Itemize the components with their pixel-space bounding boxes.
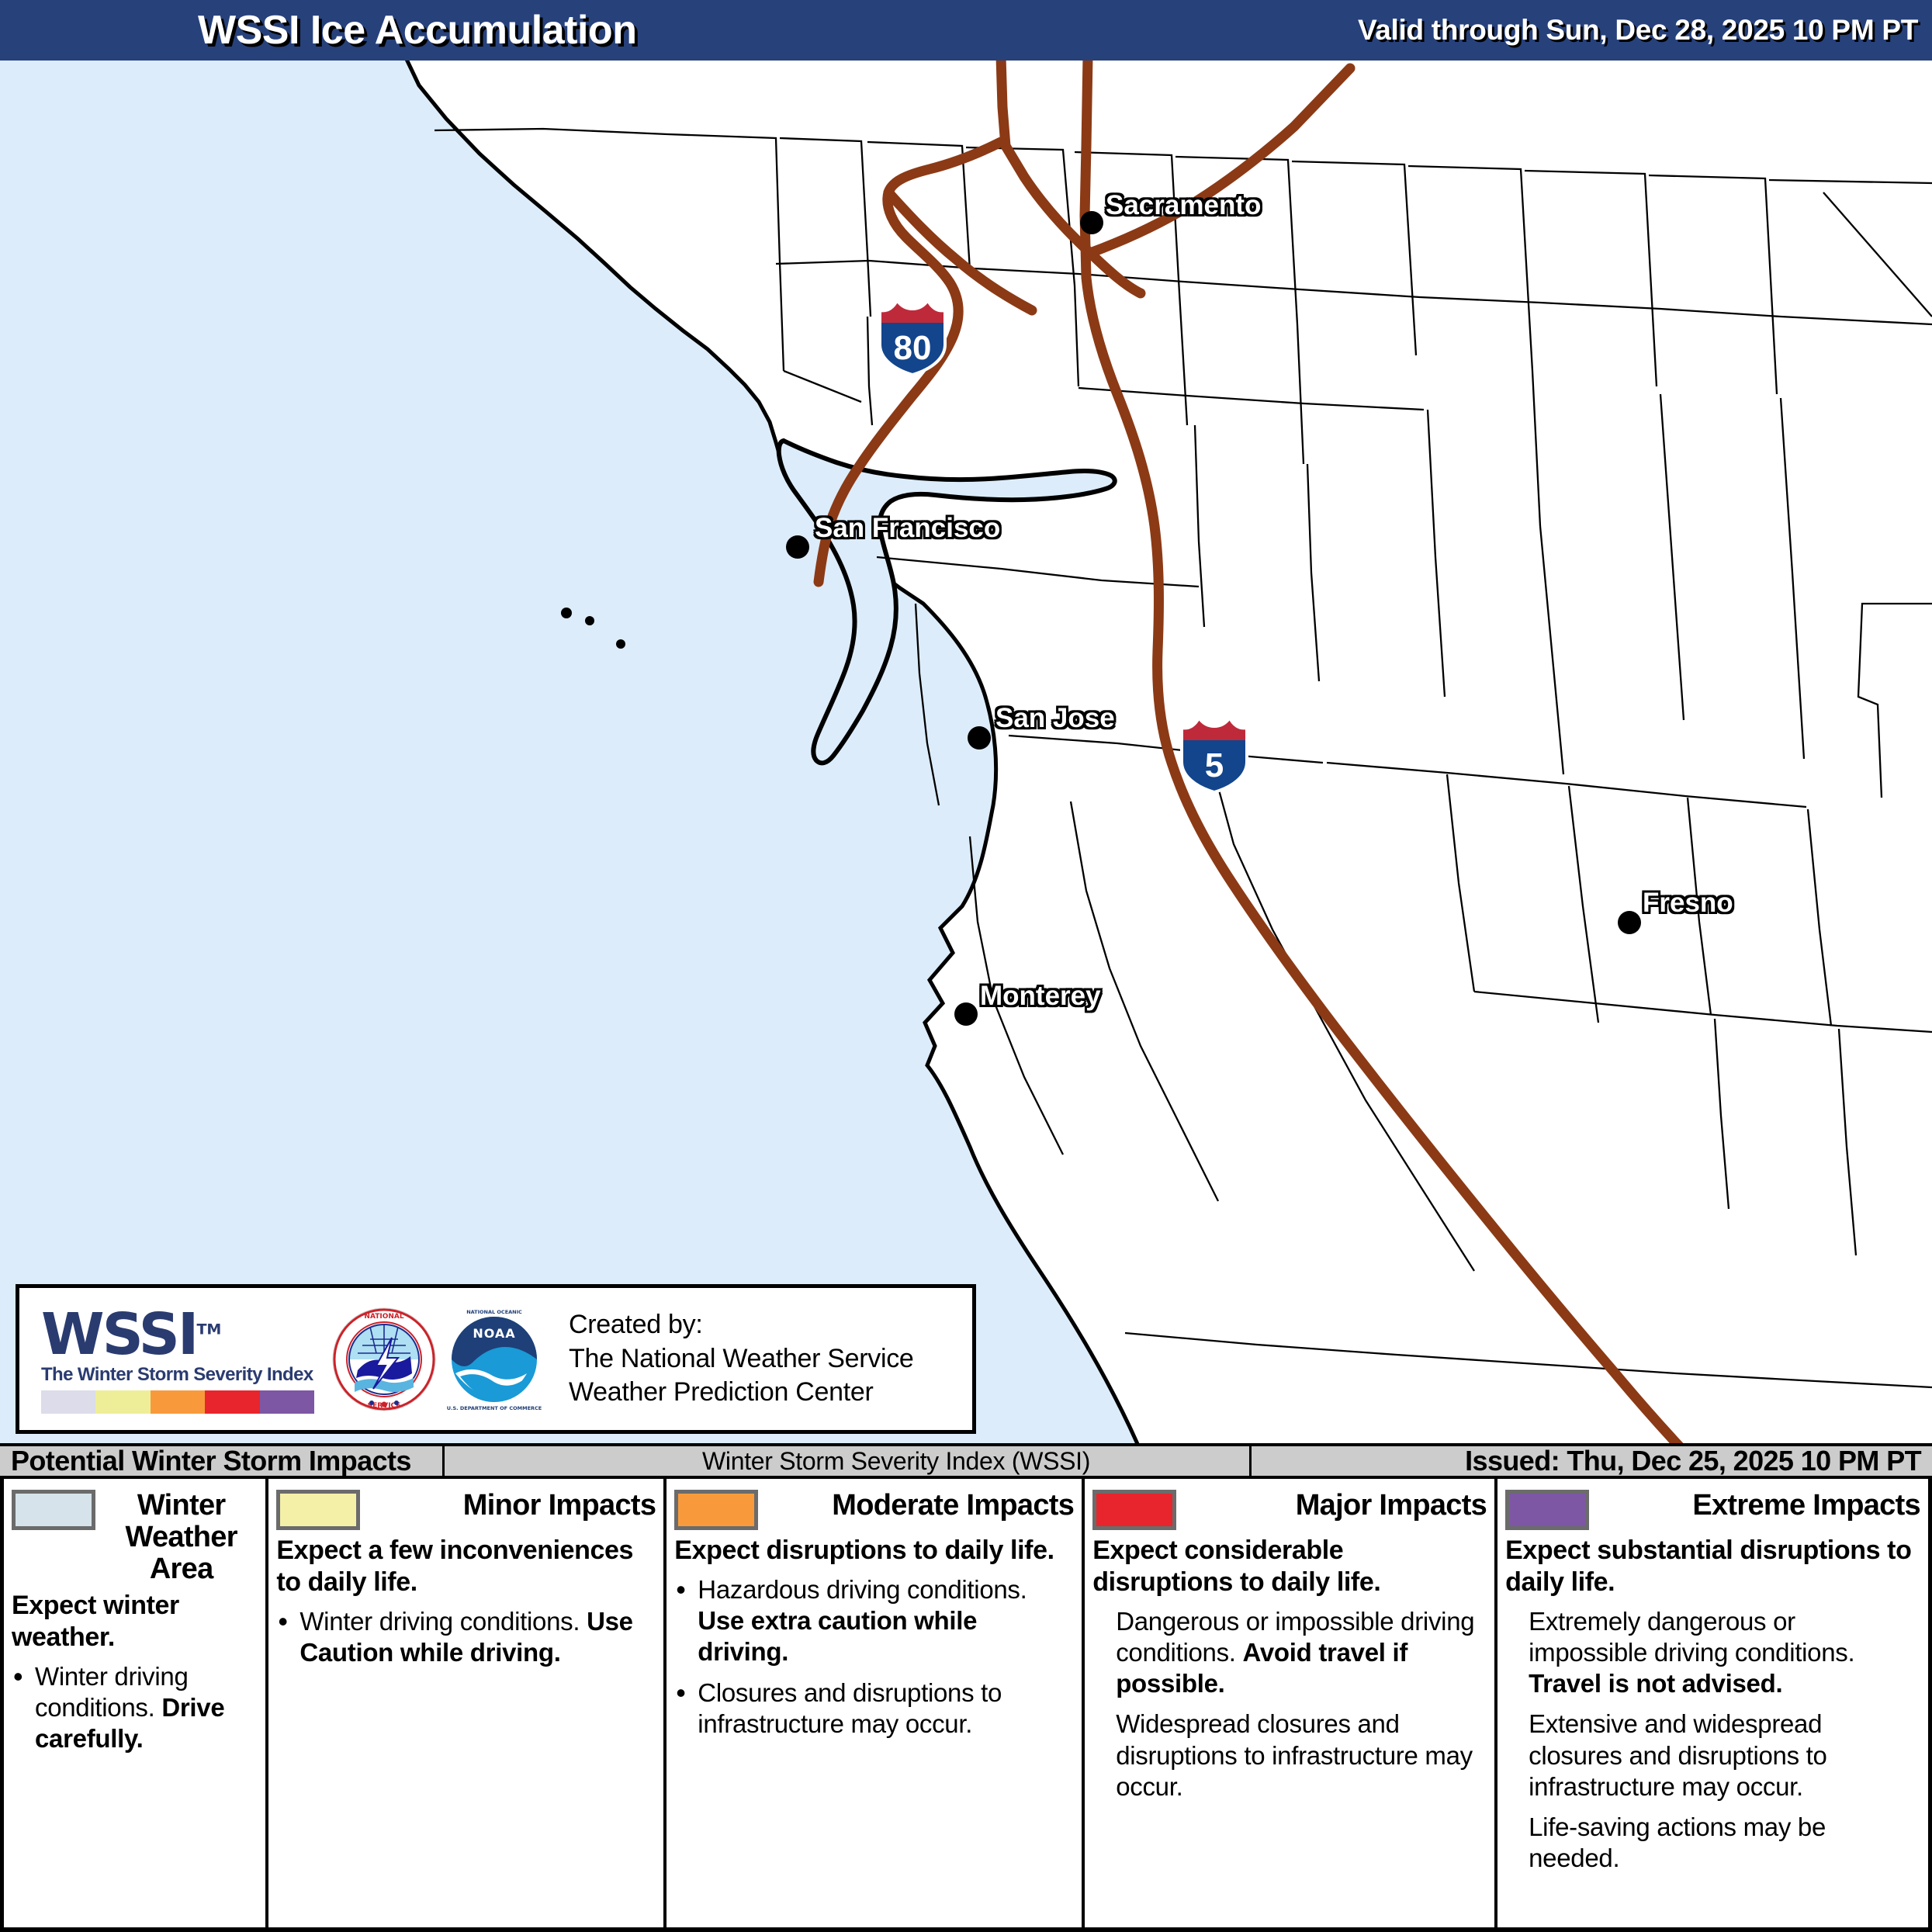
wssi-attribution-box: WSSITM The Winter Storm Severity Index: [16, 1284, 976, 1434]
farallon-island: [585, 616, 594, 625]
status-strip: Potential Winter Storm Impacts Winter St…: [0, 1443, 1932, 1479]
legend-bullet: Dangerous or impossible driving conditio…: [1092, 1606, 1487, 1700]
wssi-wordmark: WSSITM: [41, 1307, 320, 1362]
legend-header: Major Impacts: [1092, 1490, 1487, 1530]
legend-column-minor-impacts[interactable]: Minor Impacts Expect a few inconvenience…: [265, 1479, 663, 1927]
legend-bullet: Hazardous driving conditions. Use extra …: [674, 1574, 1074, 1668]
strip-divider: [1249, 1446, 1252, 1476]
legend-header: Minor Impacts: [276, 1490, 656, 1530]
legend-bullet: Widespread closures and disruptions to i…: [1092, 1709, 1487, 1802]
wssi-trademark: TM: [196, 1321, 221, 1338]
legend-column-extreme-impacts[interactable]: Extreme Impacts Expect substantial disru…: [1494, 1479, 1928, 1927]
status-potential-impacts: Potential Winter Storm Impacts: [11, 1446, 411, 1476]
page-title: WSSI Ice Accumulation: [198, 7, 636, 54]
legend-swatch-extreme-impacts: [1505, 1490, 1589, 1530]
svg-text:NATIONAL: NATIONAL: [364, 1313, 403, 1321]
farallon-island: [561, 608, 572, 618]
header-bar: WSSI Ice Accumulation Valid through Sun,…: [0, 0, 1932, 61]
created-by-line-1: Created by:: [569, 1308, 914, 1342]
bullet-plain: Extensive and widespread closures and di…: [1529, 1709, 1826, 1801]
legend-title-minor-impacts: Minor Impacts: [369, 1490, 656, 1522]
legend-summary-winter-weather-area: Expect winter weather.: [12, 1590, 258, 1653]
legend-title-winter-weather-area: Winter Weather Area: [105, 1490, 258, 1585]
interstate-shield-80: 80: [877, 293, 948, 377]
svg-text:U.S. DEPARTMENT OF COMMERCE: U.S. DEPARTMENT OF COMMERCE: [447, 1405, 542, 1411]
city-label-monterey: Monterey: [980, 981, 1101, 1012]
status-wssi-name: Winter Storm Severity Index (WSSI): [702, 1446, 1090, 1476]
city-label-san-francisco: San Francisco: [815, 513, 1000, 544]
bullet-plain: Extremely dangerous or impossible drivin…: [1529, 1607, 1854, 1667]
impact-legend-table: Winter Weather Area Expect winter weathe…: [0, 1479, 1932, 1932]
legend-bullet: Extensive and widespread closures and di…: [1505, 1709, 1920, 1802]
city-dot-san-francisco: [786, 535, 809, 559]
legend-header: Moderate Impacts: [674, 1490, 1074, 1530]
wssi-subtitle: The Winter Storm Severity Index: [41, 1364, 320, 1386]
city-label-san-jose: San Jose: [995, 703, 1115, 734]
scale-swatch-minor: [95, 1390, 150, 1414]
svg-text:NATIONAL OCEANIC: NATIONAL OCEANIC: [466, 1309, 522, 1315]
legend-bullets-moderate-impacts: Hazardous driving conditions. Use extra …: [674, 1574, 1074, 1740]
bullet-bold: Travel is not advised.: [1529, 1669, 1782, 1698]
wssi-logo: WSSITM The Winter Storm Severity Index: [19, 1304, 320, 1413]
legend-header: Winter Weather Area: [12, 1490, 258, 1585]
legend-title-moderate-impacts: Moderate Impacts: [767, 1490, 1074, 1522]
scale-swatch-winter-weather: [41, 1390, 95, 1414]
legend-title-major-impacts: Major Impacts: [1186, 1490, 1487, 1522]
wssi-map-page: WSSI Ice Accumulation Valid through Sun,…: [0, 0, 1932, 1932]
legend-summary-major-impacts: Expect considerable disruptions to daily…: [1092, 1535, 1487, 1598]
city-dot-sacramento: [1080, 211, 1103, 234]
agency-seals: NATIONAL SERVICE NOAA: [331, 1307, 547, 1412]
legend-bullet: Winter driving conditions. Drive careful…: [12, 1661, 258, 1755]
city-dot-monterey: [954, 1002, 978, 1026]
shield-number-80: 80: [877, 329, 948, 368]
legend-bullets-extreme-impacts: Extremely dangerous or impossible drivin…: [1505, 1606, 1920, 1875]
created-by-line-2: The National Weather Service: [569, 1342, 914, 1376]
legend-column-major-impacts[interactable]: Major Impacts Expect considerable disrup…: [1082, 1479, 1494, 1927]
city-dot-san-jose: [968, 726, 991, 750]
legend-summary-extreme-impacts: Expect substantial disruptions to daily …: [1505, 1535, 1920, 1598]
legend-header: Extreme Impacts: [1505, 1490, 1920, 1530]
city-label-sacramento: Sacramento: [1106, 190, 1261, 221]
strip-divider: [442, 1446, 445, 1476]
legend-bullet: Life-saving actions may be needed.: [1505, 1812, 1920, 1875]
legend-bullet: Extremely dangerous or impossible drivin…: [1505, 1606, 1920, 1700]
bullet-plain: Winter driving conditions.: [299, 1607, 587, 1636]
legend-bullet: Closures and disruptions to infrastructu…: [674, 1678, 1074, 1740]
farallon-island: [616, 639, 625, 649]
city-dot-fresno: [1618, 911, 1641, 934]
svg-text:NOAA: NOAA: [473, 1326, 515, 1341]
created-by-block: Created by: The National Weather Service…: [569, 1308, 914, 1410]
legend-column-moderate-impacts[interactable]: Moderate Impacts Expect disruptions to d…: [663, 1479, 1082, 1927]
map-geography: [0, 61, 1932, 1443]
legend-column-winter-weather-area[interactable]: Winter Weather Area Expect winter weathe…: [4, 1479, 265, 1927]
bullet-plain: Widespread closures and disruptions to i…: [1116, 1709, 1473, 1801]
valid-through-text: Valid through Sun, Dec 28, 2025 10 PM PT: [1358, 14, 1918, 47]
wssi-wordmark-text: WSSI: [41, 1301, 196, 1368]
scale-swatch-extreme: [260, 1390, 314, 1414]
wssi-color-scale: [41, 1390, 314, 1414]
legend-summary-minor-impacts: Expect a few inconveniences to daily lif…: [276, 1535, 656, 1598]
shield-number-5: 5: [1179, 746, 1250, 785]
noaa-seal: NOAA NATIONAL OCEANIC U.S. DEPARTMENT OF…: [441, 1307, 547, 1412]
scale-swatch-major: [205, 1390, 259, 1414]
legend-bullets-major-impacts: Dangerous or impossible driving conditio…: [1092, 1606, 1487, 1803]
created-by-line-3: Weather Prediction Center: [569, 1376, 914, 1410]
legend-swatch-minor-impacts: [276, 1490, 360, 1530]
bullet-bold: Use extra caution while driving.: [698, 1606, 977, 1666]
legend-swatch-major-impacts: [1092, 1490, 1176, 1530]
legend-bullets-minor-impacts: Winter driving conditions. Use Caution w…: [276, 1606, 656, 1669]
bullet-plain: Life-saving actions may be needed.: [1529, 1813, 1826, 1872]
national-weather-service-seal: NATIONAL SERVICE: [331, 1307, 437, 1412]
legend-swatch-winter-weather-area: [12, 1490, 95, 1530]
legend-bullet: Winter driving conditions. Use Caution w…: [276, 1606, 656, 1669]
city-label-fresno: Fresno: [1643, 888, 1733, 919]
interstate-shield-5: 5: [1179, 711, 1250, 795]
legend-summary-moderate-impacts: Expect disruptions to daily life.: [674, 1535, 1074, 1567]
legend-swatch-moderate-impacts: [674, 1490, 758, 1530]
map-canvas[interactable]: Sacramento San Francisco San Jose Fresno…: [0, 61, 1932, 1443]
legend-title-extreme-impacts: Extreme Impacts: [1598, 1490, 1920, 1522]
legend-bullets-winter-weather-area: Winter driving conditions. Drive careful…: [12, 1661, 258, 1755]
bullet-plain: Hazardous driving conditions.: [698, 1575, 1027, 1604]
scale-swatch-moderate: [151, 1390, 205, 1414]
status-issued-time: Issued: Thu, Dec 25, 2025 10 PM PT: [1465, 1446, 1921, 1476]
bullet-plain: Closures and disruptions to infrastructu…: [698, 1678, 1002, 1738]
